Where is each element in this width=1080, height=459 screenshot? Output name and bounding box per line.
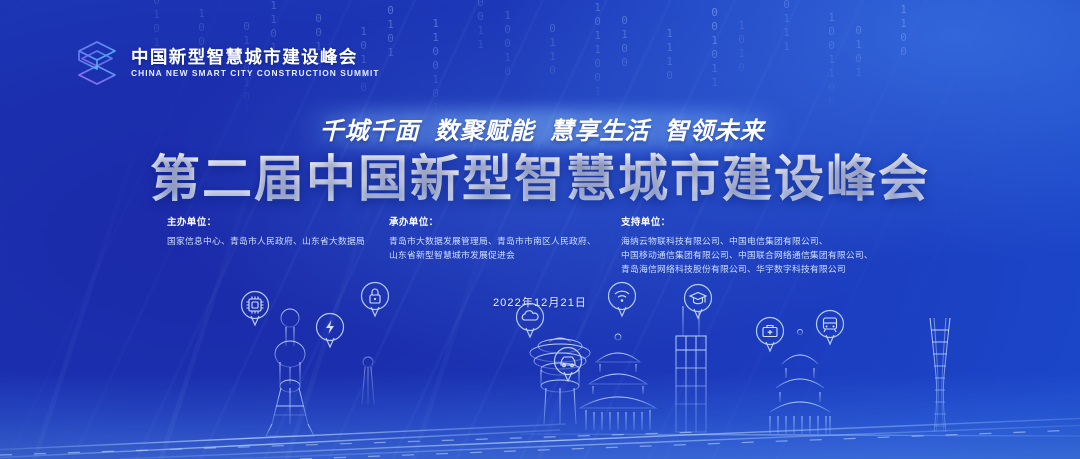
binary-column: 0011 bbox=[474, 0, 486, 52]
summit-poster: 0101101001011010111010010101100101110010… bbox=[0, 0, 1080, 459]
chip-icon bbox=[242, 292, 269, 326]
organizer-heading: 支持单位： bbox=[621, 218, 921, 228]
cloud-icon bbox=[517, 304, 544, 338]
binary-column: 1100101 bbox=[429, 17, 441, 115]
graduation-cap-icon bbox=[685, 285, 712, 319]
subtitle-phrase-1: 千城千面 bbox=[320, 111, 420, 146]
binary-column: 10010 bbox=[501, 9, 513, 79]
event-logo: 中国新型智慧城市建设峰会 CHINA NEW SMART CITY CONSTR… bbox=[74, 38, 380, 88]
binary-column: 001011 bbox=[708, 6, 720, 90]
organizer-line: 海纳云物联科技有限公司、中国电信集团有限公司、 bbox=[621, 234, 921, 248]
binary-column: 1011001 bbox=[591, 1, 603, 99]
binary-column: 0111 bbox=[780, 0, 792, 54]
transit-icon bbox=[817, 311, 844, 345]
wifi-icon bbox=[609, 283, 636, 317]
organizer-line: 国家信息中心、青岛市人民政府、山东省大数据局 bbox=[167, 234, 389, 248]
binary-column: 0100 bbox=[618, 14, 630, 70]
lightning-icon bbox=[317, 314, 344, 348]
binary-column: 0101 bbox=[384, 4, 396, 60]
organizer-heading: 承办单位： bbox=[389, 218, 621, 228]
organizer-heading: 主办单位： bbox=[167, 218, 389, 228]
organizer-line: 山东省新型智慧城市发展促进会 bbox=[389, 248, 621, 262]
subtitle-phrase-2: 数聚赋能 bbox=[435, 111, 535, 146]
logo-title-cn: 中国新型智慧城市建设峰会 bbox=[131, 49, 380, 67]
page-title: 第二届中国新型智慧城市建设峰会 bbox=[0, 150, 1080, 208]
subtitle-phrase-4: 智领未来 bbox=[665, 111, 765, 146]
smart-city-pins bbox=[0, 264, 1080, 459]
organizer-list: 国家信息中心、青岛市人民政府、山东省大数据局 bbox=[167, 234, 389, 248]
binary-column: 1110 bbox=[663, 27, 675, 83]
lock-icon bbox=[362, 283, 389, 317]
organizer-line: 青岛市大数据发展管理局、青岛市市南区人民政府、 bbox=[389, 234, 621, 248]
binary-column: 0110 bbox=[546, 22, 558, 78]
organizer-list: 青岛市大数据发展管理局、青岛市市南区人民政府、山东省新型智慧城市发展促进会 bbox=[389, 234, 621, 263]
isometric-s-cube-logo-icon bbox=[74, 38, 120, 88]
subtitle-phrase-3: 慧享生活 bbox=[550, 111, 650, 146]
binary-column: 0101 bbox=[852, 24, 864, 80]
city-skyline-scene bbox=[0, 284, 1080, 459]
medical-case-icon bbox=[757, 318, 784, 352]
binary-column: 1001100 bbox=[825, 11, 837, 109]
logo-title-en: CHINA NEW SMART CITY CONSTRUCTION SUMMIT bbox=[131, 69, 380, 77]
binary-column: 1100 bbox=[897, 3, 909, 59]
binary-column: 1010 bbox=[735, 19, 747, 75]
subtitle-slogan: 千城千面数聚赋能慧享生活智领未来 bbox=[296, 110, 788, 146]
car-icon bbox=[555, 348, 582, 382]
organizer-line: 中国移动通信集团有限公司、中国联合网络通信集团有限公司、 bbox=[621, 248, 921, 262]
